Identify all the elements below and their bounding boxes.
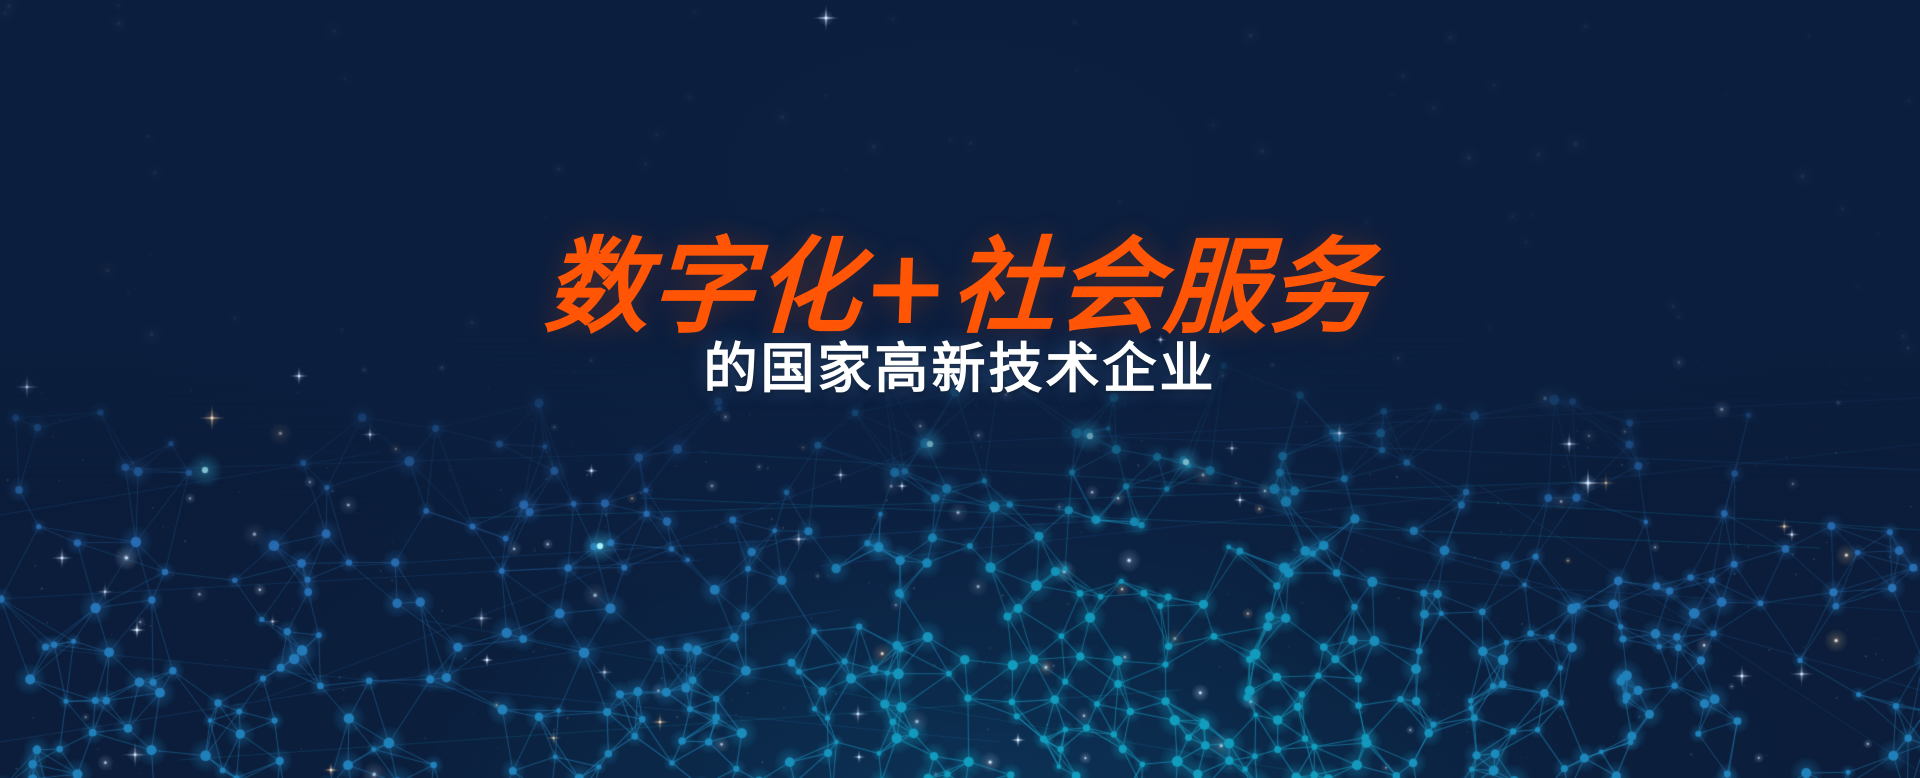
banner-headline: 数字化+社会服务 bbox=[0, 232, 1920, 342]
hero-banner: 数字化+社会服务 的国家高新技术企业 bbox=[0, 0, 1920, 778]
banner-subtitle: 的国家高新技术企业 bbox=[0, 336, 1920, 400]
